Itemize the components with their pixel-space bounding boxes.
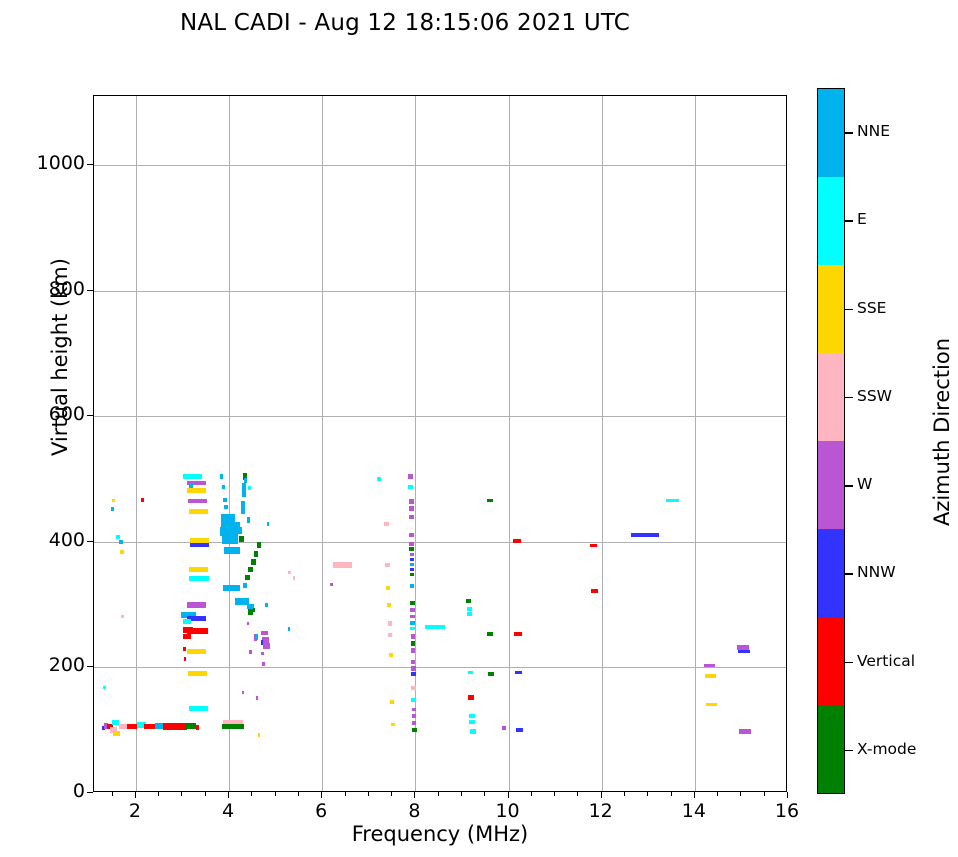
ionogram-echo <box>411 641 416 645</box>
ionogram-echo <box>249 650 252 654</box>
azimuth-colorbar <box>817 88 845 794</box>
colorbar-tick <box>845 132 853 133</box>
ionogram-echo <box>411 660 416 664</box>
ionogram-echo <box>253 608 255 612</box>
ionogram-echo <box>387 603 391 607</box>
ionogram-echo <box>288 627 290 631</box>
ionogram-echo <box>121 615 124 619</box>
ionogram-echo <box>261 652 263 656</box>
ionogram-echo <box>223 498 227 502</box>
ionogram-echo <box>262 637 269 643</box>
ionogram-echo <box>248 567 253 573</box>
ionogram-echo <box>410 615 415 619</box>
colorbar-label-nnw: NNW <box>857 563 896 581</box>
ionogram-echo <box>190 538 209 543</box>
ionogram-echo <box>410 573 415 577</box>
x-axis-tick <box>414 792 415 798</box>
y-axis-tick <box>87 290 93 291</box>
colorbar-tick <box>845 750 853 751</box>
ionogram-echo <box>222 485 225 489</box>
x-axis-minor-tick <box>181 792 182 796</box>
x-axis-tick-label: 8 <box>384 800 444 822</box>
ionogram-echo <box>254 551 258 557</box>
colorbar-label-ssw: SSW <box>857 387 892 405</box>
y-axis-title: Virtual height (km) <box>48 157 72 557</box>
ionogram-echo <box>222 536 239 545</box>
ionogram-echo <box>410 584 415 588</box>
ionogram-echo <box>224 505 228 509</box>
ionogram-echo <box>385 563 389 567</box>
ionogram-echo <box>113 731 120 736</box>
x-axis-minor-tick <box>624 792 625 796</box>
ionogram-echo <box>293 576 295 580</box>
ionogram-echo <box>467 612 473 616</box>
ionogram-echo <box>188 671 208 676</box>
ionogram-echo <box>330 583 333 587</box>
x-axis-tick-label: 14 <box>664 800 724 822</box>
ionogram-echo <box>112 499 115 503</box>
ionogram-echo <box>257 542 261 548</box>
ionogram-echo <box>488 672 494 676</box>
x-axis-minor-tick <box>554 792 555 796</box>
ionogram-echo <box>412 728 417 732</box>
ionogram-echo <box>515 671 522 675</box>
ionogram-echo <box>220 527 238 536</box>
ionogram-echo <box>189 706 209 711</box>
ionogram-echo <box>262 662 264 666</box>
ionogram-echo <box>251 559 256 565</box>
ionogram-echo <box>242 691 244 695</box>
x-axis-minor-tick <box>647 792 648 796</box>
ionogram-echo <box>103 686 106 690</box>
x-axis-tick-label: 4 <box>198 800 258 822</box>
x-axis-minor-tick <box>438 792 439 796</box>
ionogram-echo <box>187 488 206 493</box>
ionogram-echo <box>514 632 521 636</box>
ionogram-echo <box>187 602 206 608</box>
ionogram-echo <box>391 723 395 727</box>
ionogram-echo <box>411 698 416 702</box>
ionogram-echo <box>516 728 523 732</box>
y-axis-tick <box>87 541 93 542</box>
ionogram-echo <box>666 499 678 503</box>
ionogram-echo <box>244 478 247 483</box>
ionogram-echo <box>183 619 190 624</box>
colorbar-tick <box>845 662 853 663</box>
ionogram-echo <box>248 486 251 490</box>
x-axis-minor-tick <box>484 792 485 796</box>
ionogram-echo <box>412 708 417 712</box>
colorbar-tick <box>845 397 853 398</box>
ionogram-echo <box>412 721 417 725</box>
ionogram-echo <box>410 568 415 572</box>
ionogram-echo <box>245 575 250 581</box>
ionogram-echo <box>410 563 415 567</box>
ionogram-echo <box>591 589 598 593</box>
colorbar-segment-e <box>818 177 844 265</box>
ionogram-echo <box>111 507 114 511</box>
ionogram-echo <box>467 607 473 611</box>
ionogram-echo <box>288 571 291 575</box>
ionogram-echo <box>187 649 207 654</box>
x-axis-tick-label: 10 <box>478 800 538 822</box>
ionogram-echo <box>704 664 715 668</box>
colorbar-segment-x-mode <box>818 705 844 793</box>
ionogram-echo <box>189 567 209 572</box>
ionogram-echo <box>409 547 414 551</box>
ionogram-echo <box>184 657 186 661</box>
x-axis-minor-tick <box>764 792 765 796</box>
ionogram-echo <box>239 536 244 542</box>
colorbar-segment-sse <box>818 265 844 353</box>
ionogram-echo <box>247 622 249 626</box>
ionogram-echo <box>384 522 388 526</box>
ionogram-echo <box>738 650 750 653</box>
ionogram-echo <box>263 643 270 649</box>
ionogram-echo <box>470 729 476 733</box>
ionogram-echo <box>411 672 416 676</box>
colorbar-tick <box>845 220 853 221</box>
ionogram-echo <box>258 733 260 737</box>
ionogram-plot-area <box>93 95 787 792</box>
x-axis-title: Frequency (MHz) <box>93 822 787 846</box>
x-axis-tick <box>787 792 788 798</box>
colorbar-label-vertical: Vertical <box>857 652 915 670</box>
ionogram-echo <box>190 543 209 546</box>
x-axis-tick <box>508 792 509 798</box>
colorbar-segment-vertical <box>818 617 844 705</box>
ionogram-echo <box>388 621 392 625</box>
x-axis-minor-tick <box>577 792 578 796</box>
ionogram-echo <box>410 558 415 562</box>
y-axis-tick <box>87 792 93 793</box>
ionogram-echo <box>410 553 415 557</box>
ionogram-echo <box>189 509 208 514</box>
x-axis-minor-tick <box>298 792 299 796</box>
ionogram-echo <box>333 562 352 568</box>
ionogram-echo <box>409 506 414 510</box>
ionogram-echo <box>116 535 120 539</box>
ionogram-echo <box>502 726 507 730</box>
ionogram-echo <box>377 477 381 481</box>
ionogram-echo <box>243 583 248 588</box>
ionogram-echo <box>186 723 196 729</box>
x-axis-minor-tick <box>345 792 346 796</box>
y-axis-tick <box>87 666 93 667</box>
colorbar-label-w: W <box>857 475 872 493</box>
x-axis-tick <box>321 792 322 798</box>
ionogram-echo <box>410 608 415 612</box>
x-axis-tick-label: 12 <box>571 800 631 822</box>
x-axis-minor-tick <box>112 792 113 796</box>
x-axis-minor-tick <box>205 792 206 796</box>
ionogram-echo <box>119 540 122 544</box>
ionogram-echo <box>410 621 415 625</box>
ionogram-echo <box>409 499 414 503</box>
ionogram-echo <box>411 686 416 690</box>
ionogram-echo <box>256 634 259 640</box>
ionogram-echo <box>468 671 474 675</box>
ionogram-echo <box>410 601 415 605</box>
ionogram-echo <box>222 724 243 728</box>
ionogram-echo <box>469 714 475 718</box>
colorbar-label-nne: NNE <box>857 122 890 140</box>
ionogram-echo <box>408 485 413 489</box>
x-axis-minor-tick <box>368 792 369 796</box>
ionogram-echo <box>466 599 472 603</box>
ionogram-echo <box>223 585 240 591</box>
ionogram-echo <box>390 700 394 704</box>
page-title: NAL CADI - Aug 12 18:15:06 2021 UTC <box>0 10 810 36</box>
x-axis-tick-label: 2 <box>105 800 165 822</box>
x-axis-tick-label: 16 <box>757 800 817 822</box>
ionogram-echo <box>188 499 207 503</box>
ionogram-echo <box>224 547 240 553</box>
ionogram-echo <box>409 533 414 537</box>
ionogram-echo <box>127 724 137 730</box>
x-axis-tick <box>135 792 136 798</box>
ionogram-echo <box>631 533 659 537</box>
ionogram-echo <box>261 640 263 645</box>
ionogram-echo <box>241 501 246 514</box>
ionogram-echo <box>183 634 191 640</box>
colorbar-title: Azimuth Direction <box>930 302 954 562</box>
x-axis-minor-tick <box>671 792 672 796</box>
colorbar-label-x-mode: X-mode <box>857 740 916 758</box>
y-axis-tick-label: 200 <box>15 654 85 676</box>
ionogram-echo <box>706 703 717 706</box>
ionogram-echo <box>739 729 751 733</box>
ionogram-echo-layer <box>94 96 786 791</box>
x-axis-minor-tick <box>391 792 392 796</box>
ionogram-echo <box>120 550 123 554</box>
ionogram-echo <box>409 515 414 519</box>
ionogram-echo <box>183 647 185 651</box>
x-axis-minor-tick <box>461 792 462 796</box>
x-axis-tick <box>601 792 602 798</box>
ionogram-echo <box>261 631 268 635</box>
y-axis-tick <box>87 415 93 416</box>
ionogram-echo <box>410 627 415 631</box>
ionogram-echo <box>265 603 268 607</box>
ionogram-echo <box>247 517 251 523</box>
x-axis-minor-tick <box>275 792 276 796</box>
ionogram-echo <box>409 542 414 546</box>
colorbar-segment-ssw <box>818 353 844 441</box>
ionogram-echo <box>487 499 493 503</box>
colorbar-label-sse: SSE <box>857 299 886 317</box>
ionogram-echo <box>411 666 416 670</box>
ionogram-echo <box>408 474 413 478</box>
ionogram-echo <box>388 633 392 637</box>
y-axis-tick <box>87 164 93 165</box>
y-axis-tick-label: 0 <box>15 780 85 802</box>
ionogram-echo <box>412 714 417 718</box>
ionogram-echo <box>469 720 475 724</box>
ionogram-echo <box>705 674 716 678</box>
ionogram-echo <box>425 625 445 629</box>
x-axis-minor-tick <box>740 792 741 796</box>
ionogram-echo <box>256 696 258 700</box>
colorbar-segment-nnw <box>818 529 844 617</box>
ionogram-echo <box>220 474 223 478</box>
ionogram-echo <box>237 527 242 535</box>
x-axis-minor-tick <box>531 792 532 796</box>
ionogram-echo <box>196 725 200 729</box>
ionogram-echo <box>223 720 243 723</box>
x-axis-tick <box>228 792 229 798</box>
x-axis-minor-tick <box>717 792 718 796</box>
ionogram-echo <box>242 483 247 497</box>
x-axis-tick <box>694 792 695 798</box>
ionogram-echo <box>267 522 269 526</box>
x-axis-minor-tick <box>251 792 252 796</box>
ionogram-echo <box>411 648 416 652</box>
ionogram-echo <box>411 634 416 638</box>
colorbar-segment-nne <box>818 89 844 177</box>
colorbar-tick <box>845 309 853 310</box>
colorbar-tick <box>845 485 853 486</box>
ionogram-echo <box>141 498 144 502</box>
ionogram-echo <box>468 695 474 699</box>
ionogram-echo <box>144 724 155 730</box>
colorbar-segment-w <box>818 441 844 529</box>
colorbar-tick <box>845 573 853 574</box>
ionogram-echo <box>183 474 202 479</box>
ionogram-echo <box>513 539 520 543</box>
colorbar-label-e: E <box>857 210 867 228</box>
ionogram-echo <box>386 586 390 590</box>
x-axis-tick-label: 6 <box>291 800 351 822</box>
x-axis-minor-tick <box>158 792 159 796</box>
ionogram-echo <box>487 632 493 636</box>
ionogram-echo <box>189 576 209 581</box>
ionogram-echo <box>590 544 597 548</box>
ionogram-echo <box>389 653 393 657</box>
